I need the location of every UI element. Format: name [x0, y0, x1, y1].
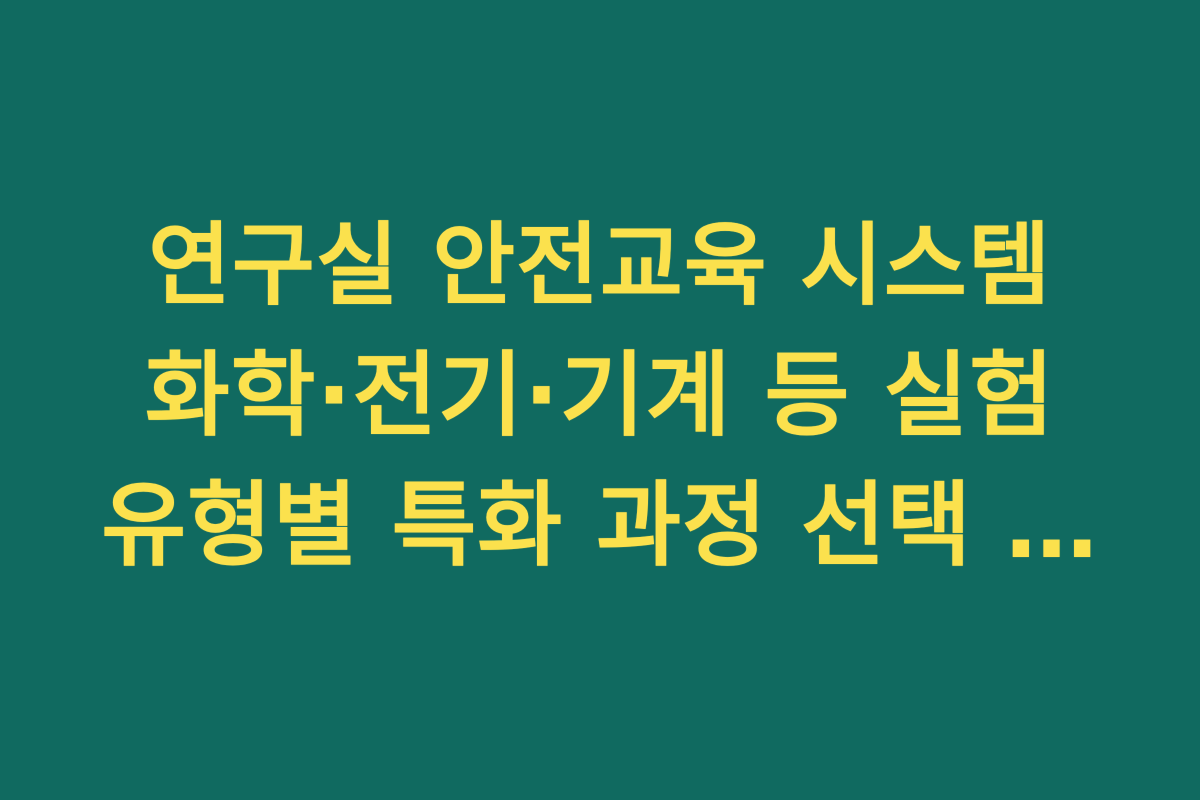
headline-block: 연구실 안전교육 시스템 화학·전기·기계 등 실험 유형별 특화 과정 선택 … [0, 201, 1200, 599]
poster-canvas: 연구실 안전교육 시스템 화학·전기·기계 등 실험 유형별 특화 과정 선택 … [0, 0, 1200, 800]
headline-line-1: 연구실 안전교육 시스템 [0, 201, 1200, 331]
headline-line-3: 유형별 특화 과정 선택 … [0, 461, 1200, 591]
headline-line-2: 화학·전기·기계 등 실험 [0, 331, 1200, 461]
